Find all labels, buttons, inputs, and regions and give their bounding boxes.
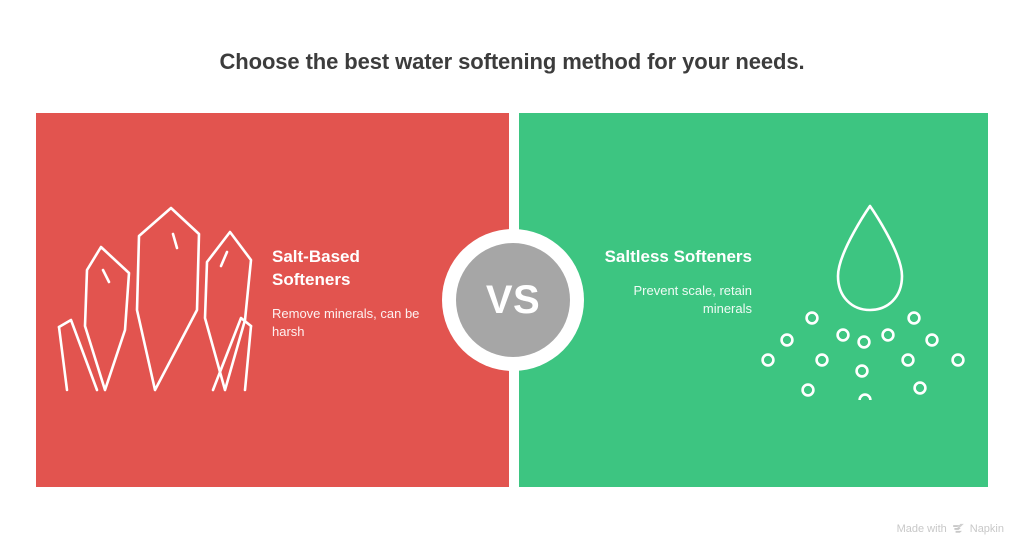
right-option-text: Saltless Softeners Prevent scale, retain… xyxy=(592,245,752,318)
left-option-subtitle: Remove minerals, can be harsh xyxy=(272,305,432,341)
versus-badge-circle: VS xyxy=(456,243,570,357)
versus-label: VS xyxy=(486,280,540,320)
footer-made-with-label: Made with xyxy=(897,523,947,535)
versus-badge: VS xyxy=(442,229,584,371)
right-option-subtitle: Prevent scale, retain minerals xyxy=(592,282,752,318)
left-option-text: Salt-Based Softeners Remove minerals, ca… xyxy=(272,245,432,341)
right-option-heading: Saltless Softeners xyxy=(592,245,752,268)
comparison-panel-right[interactable] xyxy=(519,113,988,487)
infographic-canvas: Choose the best water softening method f… xyxy=(0,0,1024,547)
napkin-logo-icon xyxy=(952,522,965,535)
footer-brand-name: Napkin xyxy=(970,523,1004,535)
page-title: Choose the best water softening method f… xyxy=(0,45,1024,79)
left-option-heading: Salt-Based Softeners xyxy=(272,245,432,291)
footer-attribution: Made with Napkin xyxy=(897,522,1004,535)
